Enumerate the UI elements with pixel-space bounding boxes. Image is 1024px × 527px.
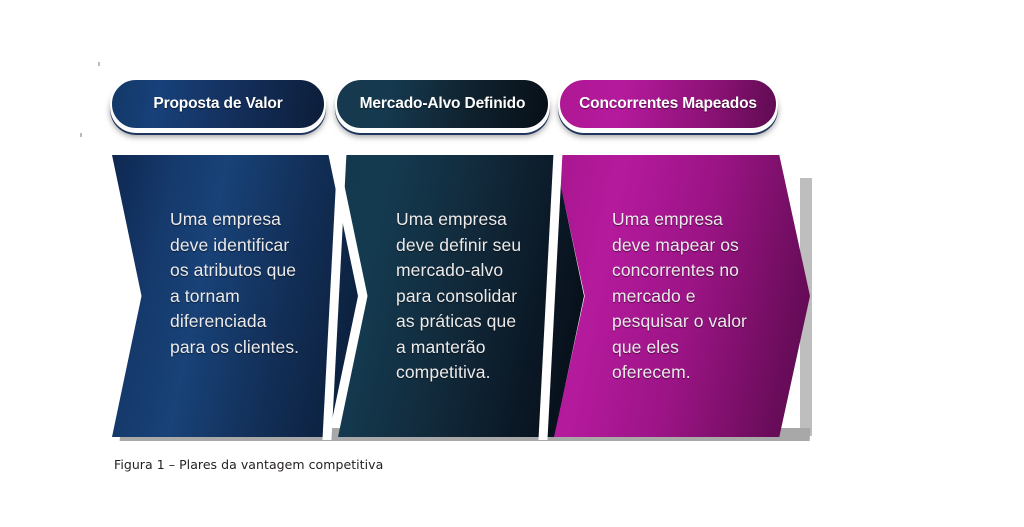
stage-body-concorrentes-mapeados[interactable]: Uma empresa deve mapear os concorrentes …	[554, 155, 810, 437]
figure-caption: Figura 1 – Plares da vantagem competitiv…	[114, 457, 383, 472]
figure-canvas: Proposta de Valor Mercado-Alvo Definido …	[0, 0, 1024, 527]
stage-body-text: Uma empresa deve definir seu mercado-alv…	[396, 207, 521, 386]
stage-body-text: Uma empresa deve mapear os concorrentes …	[612, 207, 747, 386]
stage-body-row: Uma empresa deve identificar os atributo…	[0, 0, 1024, 527]
stage-body-proposta-de-valor[interactable]: Uma empresa deve identificar os atributo…	[112, 155, 358, 437]
stage-body-text: Uma empresa deve identificar os atributo…	[170, 207, 299, 360]
